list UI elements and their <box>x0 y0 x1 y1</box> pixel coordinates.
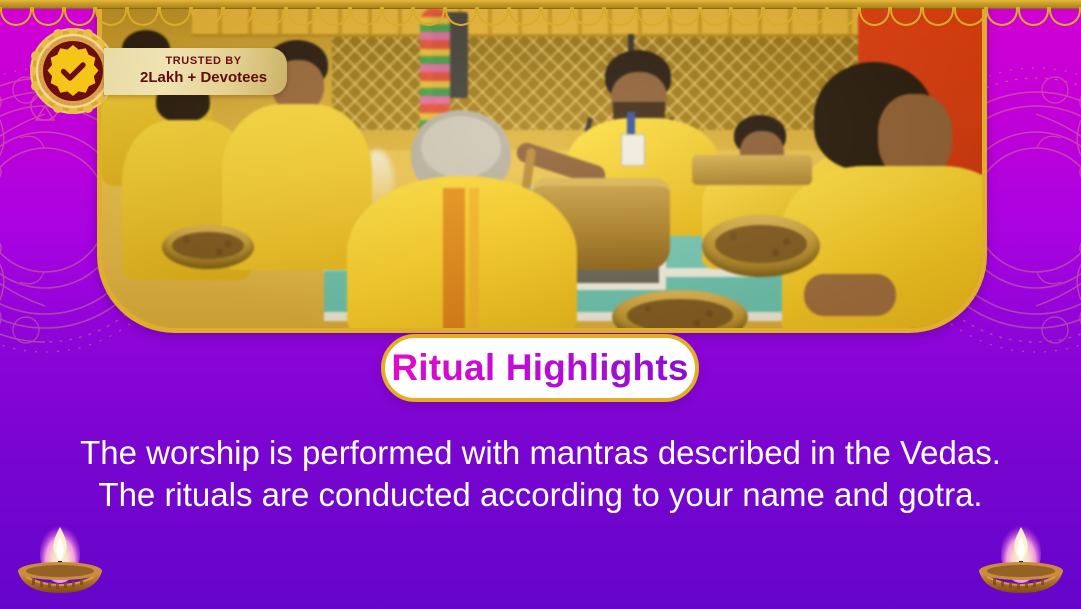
scene-wooden-tray <box>692 155 812 185</box>
toran-arch <box>0 7 32 26</box>
body-copy: The worship is performed with mantras de… <box>0 432 1081 516</box>
scene-offering-plate-right <box>702 215 820 277</box>
section-title-pill: Ritual Highlights <box>381 334 699 402</box>
toran-arch <box>64 7 96 26</box>
toran-arch <box>986 7 1018 26</box>
body-line-1: The worship is performed with mantras de… <box>0 432 1081 474</box>
body-line-2: The rituals are conducted according to y… <box>0 474 1081 516</box>
trusted-by-badge: TRUSTED BY 2Lakh + Devotees <box>104 48 287 95</box>
scene-offering-plate-left <box>162 225 254 269</box>
scene-priest-front-right <box>782 62 982 328</box>
page-title: Ritual Highlights <box>391 347 688 389</box>
trusted-by-count: 2Lakh + Devotees <box>140 69 267 87</box>
toran-arch <box>1049 7 1081 26</box>
diya-lamp-right <box>969 519 1073 601</box>
scene-main-priest-center <box>347 110 577 328</box>
toran-arch <box>1018 7 1050 26</box>
diya-lamp-left <box>8 519 112 601</box>
toran-arch <box>32 7 64 26</box>
trusted-by-label: TRUSTED BY <box>140 55 267 68</box>
slide-canvas: TRUSTED BY 2Lakh + Devotees Ritual Highl… <box>0 0 1081 609</box>
